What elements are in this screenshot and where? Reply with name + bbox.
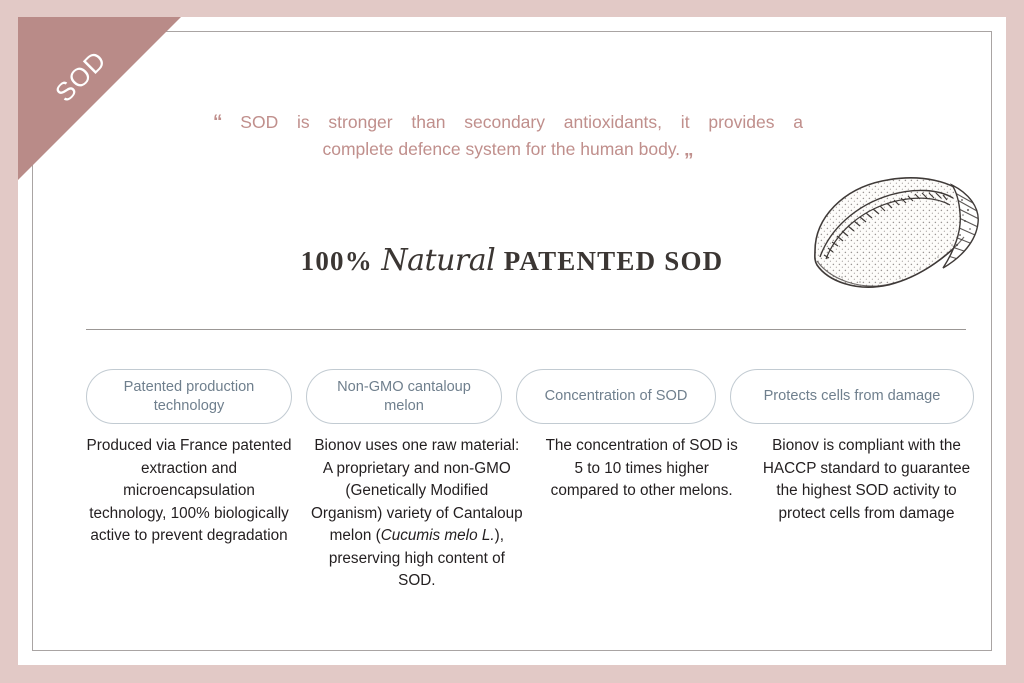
pill-patented-production-technology[interactable]: Patented production technology <box>86 369 292 424</box>
quote-block: “ SOD is stronger than secondary antioxi… <box>213 109 803 163</box>
column-text-concentration: The concentration of SOD is 5 to 10 time… <box>542 435 742 503</box>
quote-line-2: complete defence system for the human bo… <box>213 136 803 163</box>
column-text-patented-production: Produced via France patented extraction … <box>86 435 292 548</box>
close-quote-icon: “ <box>685 137 694 163</box>
slide-card: SOD “ SOD is stronger than secondary ant… <box>18 17 1006 665</box>
pill-protects-cells-from-damage[interactable]: Protects cells from damage <box>730 369 974 424</box>
headline-percent: 100% <box>301 246 373 276</box>
corner-ribbon: SOD <box>18 17 181 180</box>
melon-slice-icon <box>802 155 992 300</box>
feature-descriptions-row: Produced via France patented extraction … <box>86 435 974 593</box>
column-text-protects-cells: Bionov is compliant with the HACCP stand… <box>759 435 974 525</box>
open-quote-icon: “ <box>213 112 222 133</box>
quote-line-1: “ SOD is stronger than secondary antioxi… <box>213 109 803 136</box>
pill-concentration-of-sod[interactable]: Concentration of SOD <box>516 369 716 424</box>
column-text-non-gmo-species: Cucumis melo L. <box>381 527 495 544</box>
feature-pills-row: Patented production technology Non-GMO c… <box>86 369 974 424</box>
column-text-non-gmo: Bionov uses one raw material: A propriet… <box>309 435 524 593</box>
section-divider <box>86 329 966 330</box>
headline-script-word: Natural <box>377 243 499 278</box>
quote-text-line-2: complete defence system for the human bo… <box>322 139 680 159</box>
headline-tail: PATENTED SOD <box>504 246 724 276</box>
pill-non-gmo-cantaloup-melon[interactable]: Non-GMO cantaloup melon <box>306 369 502 424</box>
quote-text-line-1: SOD is stronger than secondary antioxida… <box>240 112 803 132</box>
